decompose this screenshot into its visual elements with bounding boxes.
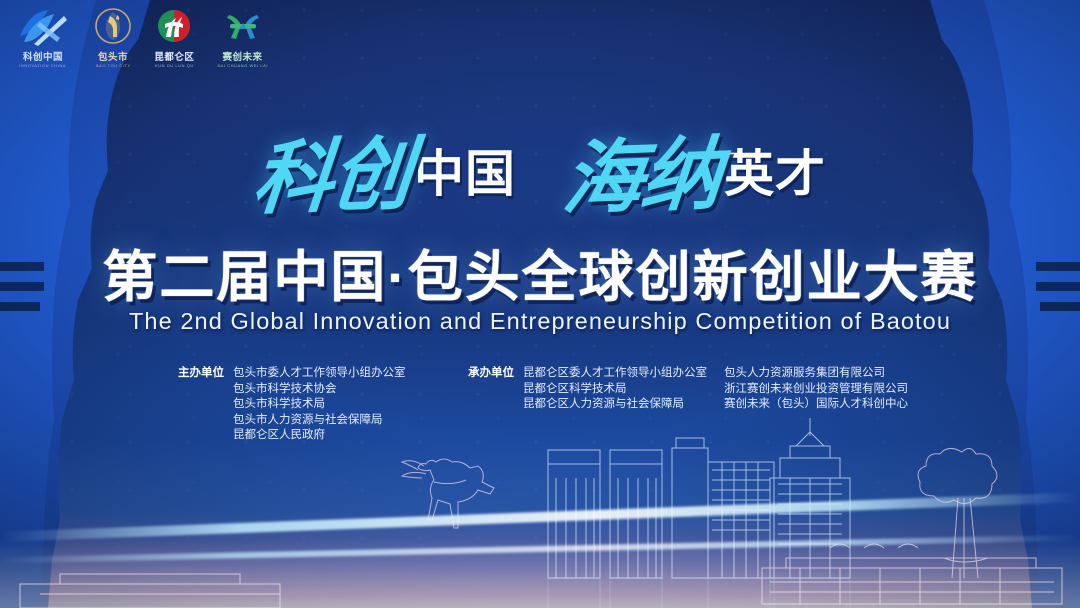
event-poster: 科创中国 INNOVATION CHINA 包头市 BAO TOU CITY (0, 0, 1080, 608)
light-beam-secondary (0, 535, 1080, 564)
organizer-list: 昆都仑区委人才工作领导小组办公室 昆都仑区科学技术局 昆都仑区人力资源与社会保障… (523, 366, 707, 444)
slogan-kechuang: 科创 (249, 109, 416, 230)
logo-label-cn: 包头市 (98, 49, 128, 63)
organizer-label: 承办单位 (468, 366, 514, 444)
logo-label-cn: 昆都仑区 (154, 49, 194, 63)
logo-label-cn: 赛创未来 (223, 49, 263, 63)
slogan-zhongguo: 中国 (414, 134, 516, 206)
organizer-item: 包头人力资源服务集团有限公司 (724, 366, 908, 382)
logo-baotou-city: 包头市 BAO TOU CITY (93, 6, 133, 68)
organizer-item: 昆都仑区科学技术局 (523, 382, 707, 398)
organizer-item: 昆都仑区委人才工作领导小组办公室 (523, 366, 707, 382)
kechuang-zhongguo-icon (14, 6, 72, 48)
left-complex-icon (20, 574, 280, 608)
organizer-list: 包头市委人才工作领导小组办公室 包头市科学技术协会 包头市科学技术局 包头市人力… (233, 366, 406, 444)
organizer-column-host: 主办单位 包头市委人才工作领导小组办公室 包头市科学技术协会 包头市科学技术局 … (178, 366, 468, 444)
event-title-cn: 第二届中国·包头全球创新创业大赛 (0, 232, 1080, 312)
slogan-headline: 科创中国海纳英才 (0, 112, 1080, 228)
logo-saichuang-weilai: 赛创未来 SAI CHUANG WEI LAI (216, 6, 269, 68)
twin-towers-icon (548, 450, 662, 578)
tree-sculpture-icon (918, 448, 997, 578)
organizer-label: 主办单位 (178, 366, 224, 444)
slogan-yingcai: 英才 (724, 134, 826, 206)
kundulun-district-icon (154, 6, 194, 48)
organizer-item: 包头市人力资源与社会保障局 (233, 413, 406, 429)
organizer-block: 主办单位 包头市委人才工作领导小组办公室 包头市科学技术协会 包头市科学技术局 … (178, 366, 954, 444)
organizer-item: 包头市科学技术局 (233, 397, 406, 413)
winged-horse-icon (402, 459, 494, 528)
event-title-en: The 2nd Global Innovation and Entreprene… (0, 308, 1080, 335)
organizer-list: 包头人力资源服务集团有限公司 浙江赛创未来创业投资管理有限公司 赛创未来（包头）… (724, 366, 908, 444)
logo-kundulun-district: 昆都仑区 KUN DU LUN QU (154, 6, 195, 68)
office-tower-icon (672, 438, 774, 578)
logo-label-en: SAI CHUANG WEI LAI (217, 63, 268, 68)
organizer-item: 昆都仑区人民政府 (233, 428, 406, 444)
organizer-item: 赛创未来（包头）国际人才科创中心 (724, 397, 908, 413)
civic-building-icon (762, 544, 1062, 604)
bottom-glow (0, 538, 1080, 608)
organizer-item: 包头市委人才工作领导小组办公室 (233, 366, 406, 382)
logo-label-cn: 科创中国 (23, 49, 63, 63)
logo-kechuang-zhongguo: 科创中国 INNOVATION CHINA (14, 6, 72, 68)
logo-label-en: BAO TOU CITY (96, 63, 131, 68)
slogan-haina: 海纳 (559, 109, 726, 230)
organizer-item: 昆都仑区人力资源与社会保障局 (523, 397, 707, 413)
organizer-column-partners: 包头人力资源服务集团有限公司 浙江赛创未来创业投资管理有限公司 赛创未来（包头）… (724, 366, 954, 444)
organizer-item: 包头市科学技术协会 (233, 382, 406, 398)
sponsor-logo-bar: 科创中国 INNOVATION CHINA 包头市 BAO TOU CITY (14, 6, 269, 68)
organizer-column-coorganizer: 承办单位 昆都仑区委人才工作领导小组办公室 昆都仑区科学技术局 昆都仑区人力资源… (468, 366, 724, 444)
light-beam-primary (0, 492, 1080, 542)
logo-label-en: INNOVATION CHINA (20, 63, 67, 68)
baotou-city-icon (93, 6, 133, 48)
logo-label-en: KUN DU LUN QU (155, 63, 194, 68)
organizer-item: 浙江赛创未来创业投资管理有限公司 (724, 382, 908, 398)
saichuang-weilai-icon (221, 6, 265, 48)
